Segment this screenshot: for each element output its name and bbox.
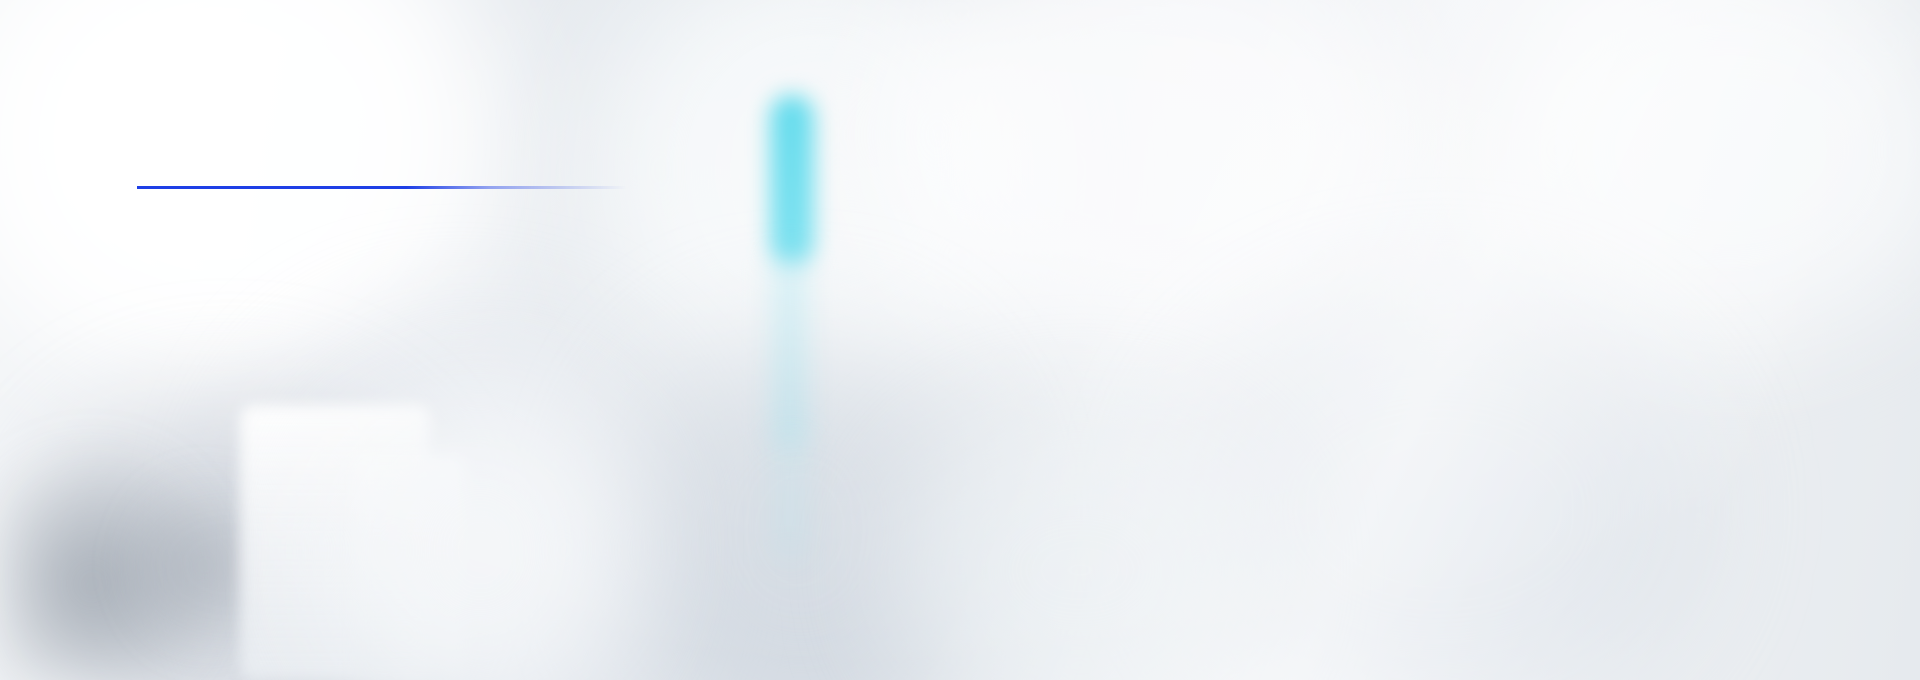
title-divider xyxy=(137,186,627,189)
promo-banner xyxy=(0,0,1920,680)
hexagon-cluster xyxy=(0,0,1920,680)
copy-block xyxy=(137,160,657,213)
